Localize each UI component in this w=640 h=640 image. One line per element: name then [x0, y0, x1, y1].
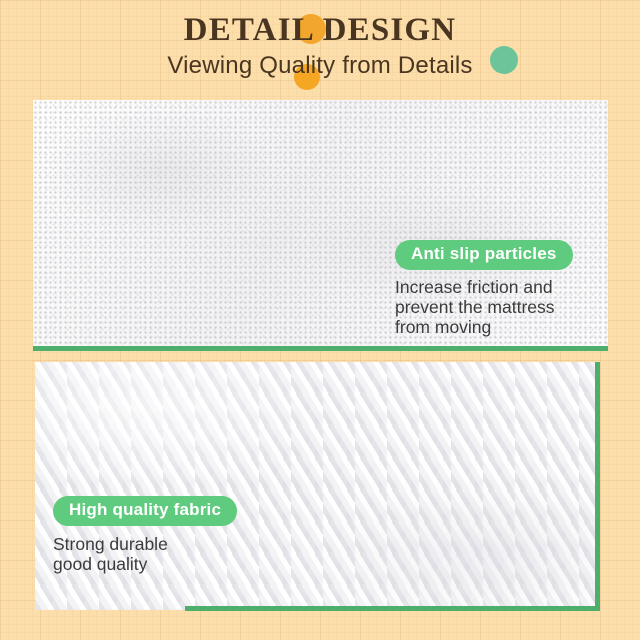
status-badge: High quality fabric — [53, 496, 237, 526]
page-background: DETAIL DESIGN Viewing Quality from Detai… — [0, 0, 640, 640]
status-badge: Anti slip particles — [395, 240, 573, 270]
panel-bottom-edge — [185, 606, 600, 611]
panel-right-edge — [595, 362, 600, 611]
header: DETAIL DESIGN Viewing Quality from Detai… — [0, 0, 640, 96]
callout-anti-slip: Anti slip particles Increase friction an… — [395, 240, 605, 338]
callout-high-quality: High quality fabric Strong durable good … — [53, 496, 283, 574]
page-subtitle: Viewing Quality from Details — [0, 52, 640, 80]
panel-bottom-edge — [33, 346, 608, 351]
callout-description: Strong durable good quality — [53, 534, 283, 575]
callout-description: Increase friction and prevent the mattre… — [395, 277, 605, 338]
page-title: DETAIL DESIGN — [0, 12, 640, 49]
